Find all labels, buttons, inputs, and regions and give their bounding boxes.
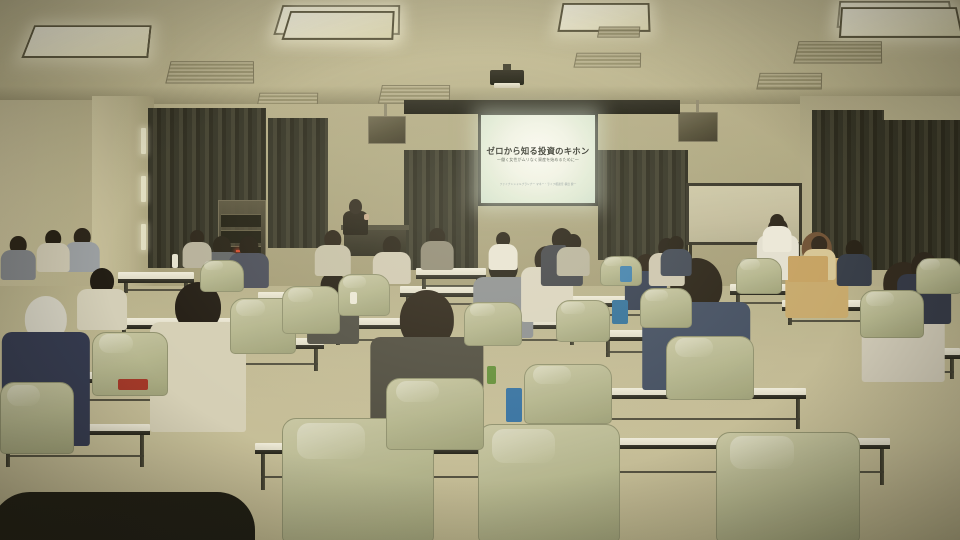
chair — [338, 274, 388, 314]
attendee-torso — [1, 250, 36, 280]
blue-bin — [620, 266, 632, 282]
chair-highlight — [604, 257, 622, 265]
table-leg-left — [261, 454, 265, 490]
attendee-torso — [421, 241, 454, 270]
chair-highlight — [204, 261, 223, 270]
attendee — [488, 232, 518, 270]
chair-highlight — [920, 259, 940, 269]
attendee — [836, 240, 872, 286]
attendee — [556, 234, 590, 276]
table-rail — [598, 418, 800, 420]
presenter-hand-with-mic — [364, 214, 369, 220]
curtain-light-gap — [141, 224, 146, 250]
chair — [666, 336, 752, 398]
chair-highlight — [866, 292, 894, 306]
chair-highlight — [288, 288, 313, 302]
projection-screen: ゼロから知る投資のキホン ～働く女性がムリなく資産を始めるために～ ファイナンシ… — [481, 115, 595, 203]
chair — [478, 424, 618, 540]
ceiling-light-panel — [839, 7, 960, 38]
red-pouch — [118, 379, 148, 390]
green-can — [487, 366, 496, 384]
table-leg-right — [314, 349, 318, 371]
chair — [916, 258, 960, 292]
attendee — [314, 230, 352, 276]
blue-bag — [612, 300, 628, 324]
curtain-light-gap — [141, 128, 146, 154]
ceiling-air-vent — [165, 61, 254, 83]
chair-highlight — [533, 366, 572, 383]
chair-highlight — [730, 436, 794, 468]
table-leg-right — [140, 435, 144, 467]
rack-slot-1 — [221, 214, 261, 227]
chair — [556, 300, 608, 340]
right-speaker-stem — [696, 100, 699, 112]
chair — [464, 302, 520, 344]
curtain-light-gap — [141, 176, 146, 202]
chair-highlight — [675, 338, 714, 357]
chair — [640, 288, 690, 326]
slide-credit: ファイナンシャルプランナー マネー・ライフ相談室 横田 健一 — [481, 182, 595, 186]
table-leg-right — [796, 399, 800, 429]
chair — [860, 290, 922, 336]
attendee-torso — [489, 244, 518, 270]
chair-highlight — [492, 429, 555, 464]
left-speaker-stem — [384, 104, 387, 116]
chair-highlight — [236, 300, 265, 316]
left-wall-speaker — [368, 116, 406, 144]
ceiling-light-panel — [281, 11, 394, 40]
chair — [200, 260, 242, 290]
foreground-dark-jacket — [0, 492, 255, 540]
chair-highlight — [297, 423, 365, 460]
slide-title: ゼロから知る投資のキホン — [481, 145, 595, 157]
room-interior: ゼロから知る投資のキホン ～働く女性がムリなく資産を始めるために～ ファイナンシ… — [0, 0, 960, 540]
attendee-torso — [837, 254, 872, 286]
table-rail — [6, 455, 144, 457]
ceiling-air-vent — [597, 27, 640, 38]
attendee-torso — [315, 245, 351, 276]
chair — [386, 378, 482, 448]
chair — [282, 286, 338, 332]
blackout-curtain — [880, 120, 960, 270]
ceiling-air-vent — [793, 41, 882, 63]
chair-highlight — [7, 385, 39, 406]
ceiling-air-vent — [573, 53, 641, 68]
chair — [524, 364, 610, 422]
chair-highlight — [740, 259, 760, 269]
attendee-torso — [661, 249, 692, 276]
blue-folder — [506, 388, 522, 422]
chair-highlight — [470, 304, 495, 317]
ceiling-light-panel — [21, 25, 151, 58]
water-bottle — [172, 254, 178, 268]
attendee-torso — [77, 289, 127, 330]
attendee-torso — [557, 247, 590, 276]
attendee-torso — [763, 226, 792, 252]
attendee — [660, 236, 692, 276]
seminar-room-photo: ゼロから知る投資のキホン ～働く女性がムリなく資産を始めるために～ ファイナンシ… — [0, 0, 960, 540]
table-leg-right — [950, 359, 954, 379]
table-leg-right — [880, 449, 884, 485]
table-leg-left — [422, 279, 426, 289]
chair — [0, 382, 72, 452]
chair-highlight — [645, 290, 668, 301]
chair-highlight — [561, 302, 584, 314]
chair — [736, 258, 780, 292]
ceiling-air-vent — [756, 73, 822, 90]
projector-lens — [494, 83, 520, 88]
table-top — [118, 272, 194, 279]
chair-highlight — [343, 276, 366, 288]
chair-highlight — [396, 381, 439, 402]
chair-highlight — [99, 334, 132, 353]
table-leg-left — [606, 341, 610, 357]
attendee — [76, 268, 128, 330]
attendee — [36, 230, 70, 272]
white-cup — [350, 292, 357, 304]
attendee — [420, 228, 454, 270]
tan-bag — [788, 256, 828, 282]
chair — [716, 432, 858, 540]
attendee — [762, 214, 792, 252]
attendee — [0, 236, 36, 280]
right-wall-speaker — [678, 112, 718, 142]
slide-subtitle: ～働く女性がムリなく資産を始めるために～ — [481, 157, 595, 163]
attendee-torso — [37, 243, 70, 272]
blackout-curtain — [268, 118, 328, 248]
presenter-head — [349, 199, 362, 214]
